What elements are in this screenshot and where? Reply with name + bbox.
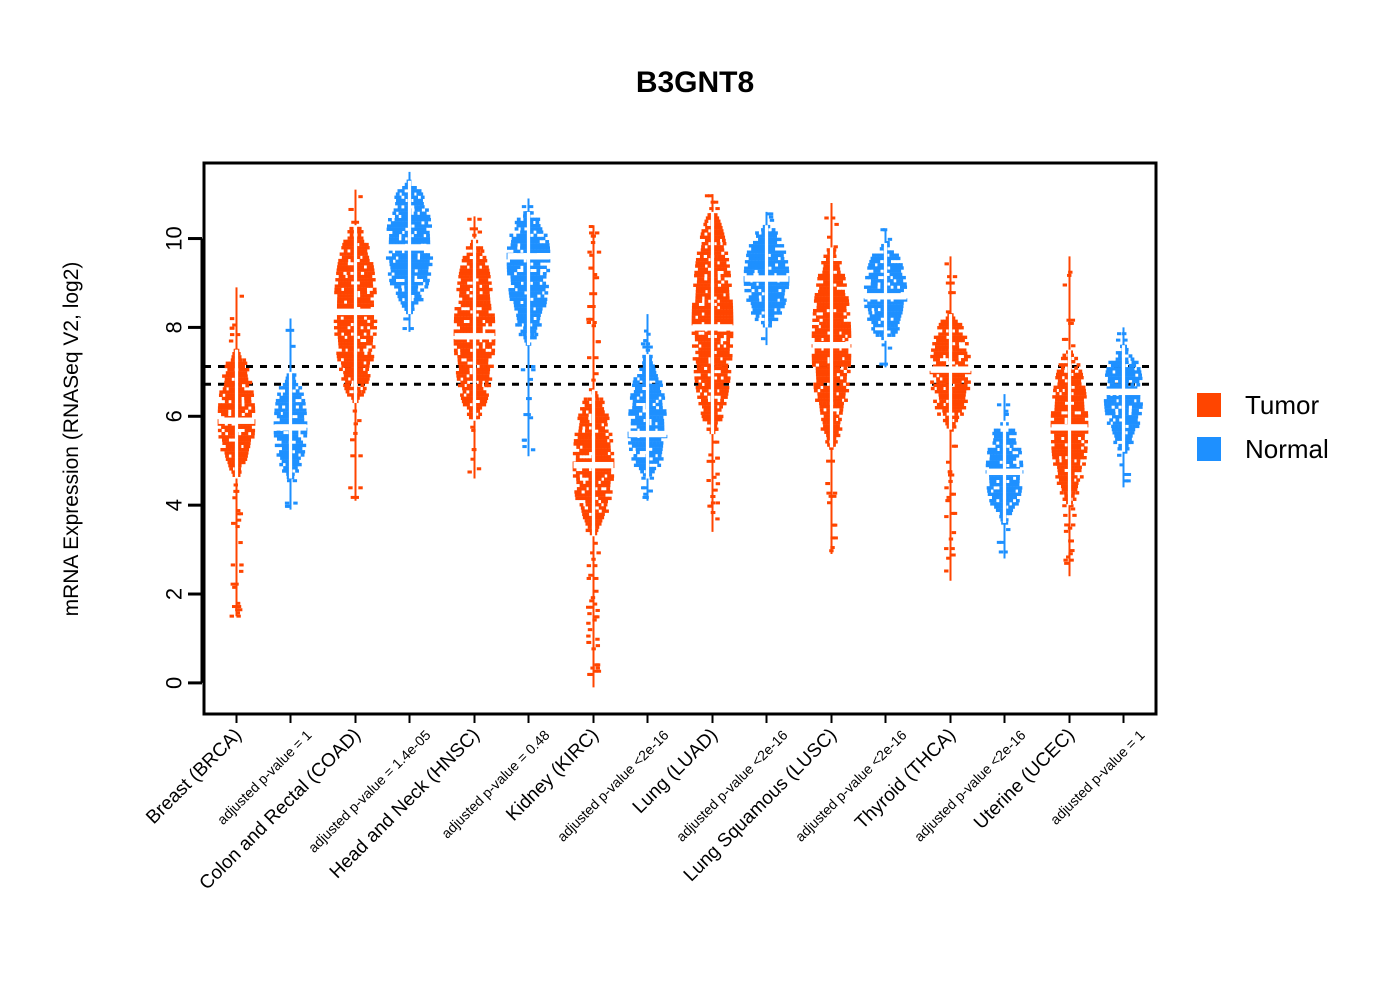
violin-tumor-5-mark xyxy=(847,322,851,325)
violin-tumor-1-mark xyxy=(347,316,351,319)
violin-normal-0-mark xyxy=(294,466,298,469)
violin-normal-3-mark xyxy=(652,422,656,425)
violin-tumor-1-mark xyxy=(365,243,369,246)
violin-tumor-4-mark xyxy=(717,367,721,370)
violin-tumor-3-mark xyxy=(599,397,603,400)
violin-normal-1-mark xyxy=(392,256,396,259)
violin-normal-4-mark xyxy=(751,260,755,263)
violin-normal-3-mark xyxy=(653,416,657,419)
violin-tumor-0-mark xyxy=(241,387,245,390)
violin-tumor-1-mark xyxy=(368,348,372,351)
violin-normal-6-mark xyxy=(1018,489,1022,492)
violin-tumor-0-mark xyxy=(248,413,252,416)
violin-normal-0-mark xyxy=(299,409,303,412)
violin-tumor-6-mark xyxy=(945,332,949,335)
violin-normal-2-mark xyxy=(540,298,544,301)
violin-tumor-6-mark xyxy=(943,412,947,415)
violin-tumor-1-mark xyxy=(357,339,361,342)
violin-tumor-4-mark xyxy=(720,293,724,296)
violin-normal-3-mark xyxy=(639,406,643,409)
violin-normal-3-mark xyxy=(642,371,646,374)
violin-tumor-1-mark xyxy=(367,355,371,358)
violin-normal-5-mark xyxy=(884,243,887,341)
violin-tumor-2-mark xyxy=(476,416,480,419)
violin-normal-0-mark xyxy=(274,409,278,412)
violin-normal-4-mark xyxy=(771,238,775,241)
violin-tumor-1-mark xyxy=(371,272,375,275)
violin-tumor-1-mark xyxy=(364,272,368,275)
violin-tumor-1-mark xyxy=(357,240,361,243)
violin-tumor-2-mark xyxy=(479,345,483,348)
violin-tumor-3-mark xyxy=(599,506,603,509)
violin-tumor-5-mark xyxy=(845,389,849,392)
violin-normal-3-mark xyxy=(643,377,647,380)
violin-normal-2-mark xyxy=(517,259,521,262)
violin-tumor-1-mark xyxy=(349,227,353,230)
violin-tumor-1-mark xyxy=(344,259,348,262)
violin-normal-1-mark xyxy=(421,196,425,199)
violin-normal-3-mark xyxy=(639,460,643,463)
violin-tumor-1-mark xyxy=(347,268,351,271)
violin-tumor-5-mark xyxy=(834,223,838,226)
violin-tumor-5-mark xyxy=(826,367,830,370)
violin-tumor-4-mark xyxy=(701,264,705,267)
violin-tumor-4-mark xyxy=(728,284,732,287)
violin-tumor-4-mark xyxy=(729,300,733,303)
violin-normal-3-mark xyxy=(642,416,646,419)
violin-normal-2-mark xyxy=(533,336,537,339)
violin-normal-1-mark xyxy=(394,266,398,269)
violin-tumor-5-mark xyxy=(825,482,829,485)
violin-normal-0-mark xyxy=(282,441,286,444)
violin-tumor-1-mark xyxy=(357,249,361,252)
violin-tumor-3-mark xyxy=(581,417,585,420)
violin-normal-4-mark xyxy=(761,286,765,289)
violin-tumor-2-mark xyxy=(463,371,467,374)
violin-tumor-5-mark xyxy=(833,424,837,427)
violin-normal-4-mark xyxy=(771,263,775,266)
violin-tumor-1-mark xyxy=(367,358,371,361)
violin-tumor-1-mark xyxy=(360,323,364,326)
violin-normal-5-mark xyxy=(874,276,878,279)
violin-tumor-1-mark xyxy=(350,297,354,300)
violin-tumor-3-mark xyxy=(598,423,602,426)
violin-normal-4-mark xyxy=(767,212,771,215)
violin-normal-4-mark xyxy=(758,267,762,270)
violin-normal-1-mark xyxy=(421,269,425,272)
violin-tumor-1-mark xyxy=(357,323,361,326)
violin-tumor-3-mark xyxy=(596,397,600,400)
violin-tumor-4-mark xyxy=(721,236,725,239)
violin-normal-5-mark xyxy=(893,318,897,321)
violin-normal-1-mark xyxy=(426,231,430,234)
violin-normal-6-mark xyxy=(1013,464,1017,467)
violin-tumor-5-mark xyxy=(829,495,833,498)
violin-normal-6-mark xyxy=(999,499,1003,502)
violin-normal-1-mark xyxy=(411,308,415,311)
violin-tumor-4-mark xyxy=(720,383,724,386)
violin-tumor-6-mark xyxy=(967,355,971,358)
violin-tumor-1-mark xyxy=(340,320,344,323)
violin-tumor-0-mark xyxy=(244,454,248,457)
violin-normal-4-mark xyxy=(754,311,758,314)
violin-normal-2-mark xyxy=(523,269,527,272)
violin-normal-3-mark xyxy=(655,377,659,380)
violin-normal-3-mark xyxy=(642,460,646,463)
violin-normal-6-mark xyxy=(996,457,1000,460)
violin-tumor-4-mark xyxy=(717,376,721,379)
violin-tumor-2-mark xyxy=(485,285,489,288)
violin-tumor-4-mark xyxy=(721,284,725,287)
violin-tumor-4-mark xyxy=(697,274,701,277)
violin-normal-3-mark xyxy=(633,454,637,457)
violin-tumor-2-mark xyxy=(456,288,460,291)
violin-normal-2-mark xyxy=(523,250,527,253)
violin-tumor-6-mark xyxy=(942,400,946,403)
violin-normal-1-mark xyxy=(418,221,422,224)
violin-tumor-4-mark xyxy=(703,408,707,411)
violin-normal-4-mark xyxy=(785,270,789,273)
violin-normal-1-mark xyxy=(411,218,415,221)
violin-tumor-1-mark xyxy=(350,374,354,377)
violin-normal-4-mark xyxy=(769,216,773,219)
violin-normal-2-mark xyxy=(537,259,541,262)
violin-tumor-6-mark xyxy=(964,400,968,403)
violin-tumor-1-mark xyxy=(358,486,362,489)
violin-normal-4-mark xyxy=(768,286,772,289)
violin-tumor-4-mark xyxy=(714,261,718,264)
violin-normal-3-mark xyxy=(649,384,653,387)
violin-normal-6-mark xyxy=(1009,499,1013,502)
violin-normal-2-mark xyxy=(537,298,541,301)
violin-tumor-6-mark xyxy=(937,412,941,415)
violin-tumor-0-mark xyxy=(238,368,242,371)
violin-normal-0-mark xyxy=(285,460,289,463)
violin-normal-3-mark xyxy=(642,361,646,364)
violin-tumor-5-mark xyxy=(824,360,828,363)
violin-normal-1-mark xyxy=(426,260,430,263)
violin-normal-3-mark xyxy=(652,400,656,403)
violin-normal-5-mark xyxy=(869,260,873,263)
violin-tumor-0-mark xyxy=(245,384,249,387)
violin-normal-0-mark xyxy=(286,418,290,421)
violin-tumor-4-mark xyxy=(717,242,721,245)
violin-normal-3-mark xyxy=(646,354,649,478)
violin-tumor-1-mark xyxy=(369,275,373,278)
violin-normal-6-mark xyxy=(987,489,991,492)
violin-tumor-4-mark xyxy=(707,271,711,274)
violin-tumor-5-mark xyxy=(833,370,837,373)
violin-normal-3-mark xyxy=(644,339,648,342)
violin-normal-1-mark xyxy=(418,224,422,227)
violin-normal-0-mark xyxy=(292,380,296,383)
violin-tumor-0-mark xyxy=(236,509,240,512)
violin-tumor-2-mark xyxy=(466,294,470,297)
violin-tumor-1-mark xyxy=(355,221,359,224)
violin-tumor-3-mark xyxy=(579,481,583,484)
violin-normal-4-mark xyxy=(781,289,785,292)
violin-normal-5-mark xyxy=(877,289,881,292)
violin-normal-4-mark xyxy=(761,247,765,250)
violin-tumor-4-mark xyxy=(723,402,727,405)
violin-tumor-1-mark xyxy=(360,358,364,361)
violin-tumor-5-mark xyxy=(836,379,840,382)
violin-tumor-2-mark xyxy=(462,387,466,390)
violin-tumor-6-mark xyxy=(956,390,960,393)
violin-tumor-1-mark xyxy=(350,233,354,236)
violin-normal-0-mark xyxy=(282,444,286,447)
violin-tumor-1-mark xyxy=(367,297,371,300)
violin-normal-1-mark xyxy=(404,285,408,288)
violin-tumor-0-mark xyxy=(241,432,245,435)
violin-normal-3-mark xyxy=(632,384,636,387)
violin-tumor-5-mark xyxy=(847,354,851,357)
violin-tumor-4-mark xyxy=(725,284,729,287)
violin-normal-0-mark xyxy=(300,415,304,418)
violin-tumor-6-mark xyxy=(963,348,967,351)
violin-tumor-5-mark xyxy=(826,379,830,382)
violin-normal-4-mark xyxy=(751,302,755,305)
violin-tumor-4-mark xyxy=(714,364,718,367)
violin-tumor-3-mark xyxy=(589,449,593,452)
violin-tumor-3-mark xyxy=(607,484,611,487)
violin-tumor-5-mark xyxy=(823,283,827,286)
violin-normal-1-mark xyxy=(394,272,398,275)
violin-tumor-0-mark xyxy=(250,390,254,393)
violin-normal-4-mark xyxy=(768,263,772,266)
violin-normal-1-mark xyxy=(391,221,395,224)
violin-tumor-6-mark xyxy=(955,396,959,399)
violin-tumor-4-mark xyxy=(716,482,720,485)
violin-tumor-1-mark xyxy=(357,304,361,307)
violin-tumor-6-mark xyxy=(952,393,956,396)
violin-normal-6-mark xyxy=(1019,464,1023,467)
violin-normal-2-mark xyxy=(535,221,539,224)
violin-tumor-4-mark xyxy=(714,399,718,402)
violin-tumor-1-mark xyxy=(360,332,364,335)
violin-normal-2-mark xyxy=(533,266,537,269)
violin-normal-0-mark xyxy=(282,386,286,389)
violin-tumor-3-mark xyxy=(594,590,598,593)
violin-tumor-4-mark xyxy=(725,290,729,293)
violin-tumor-4-mark xyxy=(724,396,728,399)
violin-tumor-6-mark xyxy=(955,393,959,396)
violin-tumor-4-mark xyxy=(726,341,730,344)
violin-tumor-0-mark xyxy=(231,522,235,525)
violin-tumor-1-mark xyxy=(348,486,352,489)
violin-normal-4-mark xyxy=(778,286,782,289)
violin-normal-2-mark xyxy=(529,378,533,381)
violin-tumor-1-mark xyxy=(361,384,365,387)
violin-tumor-0-mark xyxy=(232,605,236,608)
violin-tumor-5-mark xyxy=(815,325,819,328)
violin-tumor-3-mark xyxy=(602,433,606,436)
violin-normal-2 xyxy=(507,199,551,457)
violin-normal-0-mark xyxy=(285,386,289,389)
violin-tumor-4-mark xyxy=(707,421,711,424)
violin-tumor-4-mark xyxy=(701,245,705,248)
violin-normal-6-mark xyxy=(1012,483,1016,486)
violin-tumor-1-mark xyxy=(350,393,354,396)
violin-normal-5-mark xyxy=(870,289,874,292)
violin-normal-1-mark xyxy=(411,231,415,234)
violin-normal-1-mark xyxy=(427,218,431,221)
violin-normal-3-mark xyxy=(628,441,632,444)
violin-tumor-2-mark xyxy=(486,294,490,297)
violin-tumor-2-mark xyxy=(474,227,478,230)
violin-tumor-4-mark xyxy=(715,216,719,219)
violin-tumor-4-mark xyxy=(704,300,708,303)
violin-normal-3-mark xyxy=(642,486,646,489)
violin-tumor-4-mark xyxy=(694,274,698,277)
violin-normal-1-mark xyxy=(418,266,422,269)
violin-tumor-3-mark xyxy=(585,452,589,455)
violin-normal-3-mark xyxy=(653,412,657,415)
violin-normal-4-mark xyxy=(751,311,755,314)
violin-tumor-5-mark xyxy=(841,274,845,277)
violin-tumor-5-mark xyxy=(846,383,850,386)
violin-normal-5-mark xyxy=(873,260,877,263)
violin-tumor-5-mark xyxy=(840,370,844,373)
violin-tumor-3-mark xyxy=(610,474,614,477)
violin-tumor-3-mark xyxy=(607,481,611,484)
violin-normal-5-mark xyxy=(894,324,898,327)
violin-normal-3-mark xyxy=(635,387,639,390)
violin-normal-5-mark xyxy=(874,302,878,305)
violin-tumor-4-mark xyxy=(717,373,721,376)
violin-tumor-1-mark xyxy=(370,326,374,329)
violin-tumor-3-mark xyxy=(599,436,603,439)
violin-tumor-4-mark xyxy=(720,245,724,248)
violin-tumor-3-mark xyxy=(581,509,585,512)
violin-tumor-4-mark xyxy=(720,344,724,347)
violin-normal-3-mark xyxy=(653,371,657,374)
violin-normal-1 xyxy=(386,172,433,332)
violin-tumor-2-mark xyxy=(466,365,470,368)
violin-tumor-1-mark xyxy=(360,230,364,233)
violin-normal-2-mark xyxy=(544,234,548,237)
violin-tumor-6-mark xyxy=(947,275,951,278)
violin-tumor-5-mark xyxy=(848,335,852,338)
violin-tumor-6-mark xyxy=(952,422,956,425)
violin-normal-4-mark xyxy=(778,263,782,266)
violin-tumor-4-mark xyxy=(714,408,718,411)
violin-tumor-6-mark xyxy=(945,342,949,345)
violin-normal-5-mark xyxy=(874,257,878,260)
violin-tumor-2-mark xyxy=(469,291,473,294)
violin-normal-4-mark xyxy=(753,282,757,285)
violin-tumor-3-mark xyxy=(595,413,599,416)
violin-normal-4-mark xyxy=(765,225,768,327)
violin-normal-2-mark xyxy=(536,240,540,243)
violin-tumor-1-mark xyxy=(351,342,355,345)
violin-tumor-4-mark xyxy=(711,495,715,498)
violin-tumor-0-mark xyxy=(234,583,238,586)
violin-tumor-1-mark xyxy=(367,304,371,307)
violin-normal-5-mark xyxy=(887,289,891,292)
violin-tumor-1-mark xyxy=(360,320,364,323)
violin-normal-0-mark xyxy=(278,444,282,447)
violin-tumor-2-mark xyxy=(479,381,483,384)
violin-normal-1-mark xyxy=(425,282,429,285)
violin-tumor-0-mark xyxy=(231,403,235,406)
violin-tumor-0-mark xyxy=(232,324,236,327)
violin-normal-4-mark xyxy=(751,263,755,266)
violin-normal-1-mark xyxy=(408,181,411,314)
violin-tumor-1-mark xyxy=(337,304,341,307)
violin-normal-4-mark xyxy=(780,254,784,257)
violin-tumor-4-mark xyxy=(718,255,722,258)
violin-normal-4-mark xyxy=(761,305,765,308)
violin-tumor-2-mark xyxy=(486,291,490,294)
violin-tumor-2-mark xyxy=(462,294,466,297)
violin-tumor-4-mark xyxy=(701,373,705,376)
violin-normal-0-mark xyxy=(285,447,289,450)
violin-tumor-4-mark xyxy=(714,421,718,424)
violin-tumor-4-mark xyxy=(705,242,709,245)
violin-tumor-5-mark xyxy=(836,306,840,309)
violin-tumor-1-mark xyxy=(337,300,341,303)
violin-normal-2-mark xyxy=(513,262,517,265)
violin-tumor-6-mark xyxy=(942,345,946,348)
violin-tumor-2-mark xyxy=(469,390,473,393)
violin-tumor-5-mark xyxy=(836,312,840,315)
violin-tumor-2-mark xyxy=(482,323,486,326)
violin-tumor-3-mark xyxy=(602,493,606,496)
violin-normal-3-mark xyxy=(642,346,646,349)
violin-tumor-3-mark xyxy=(582,413,586,416)
violin-tumor-6-mark xyxy=(946,384,950,387)
violin-normal-1-mark xyxy=(426,240,430,243)
violin-tumor-2-mark xyxy=(469,297,473,300)
violin-tumor-2-mark xyxy=(482,288,486,291)
violin-tumor-1-mark xyxy=(343,371,347,374)
violin-normal-4-mark xyxy=(774,298,778,301)
violin-tumor-2-mark xyxy=(456,371,460,374)
violin-tumor-4-mark xyxy=(726,380,730,383)
violin-normal-5-mark xyxy=(897,270,901,273)
violin-normal-5-mark xyxy=(880,334,884,337)
violin-tumor-3-mark xyxy=(591,596,595,599)
violin-tumor-1-mark xyxy=(338,288,342,291)
violin-tumor-2-mark xyxy=(469,272,473,275)
violin-tumor-1-mark xyxy=(337,355,341,358)
violin-tumor-5-mark xyxy=(833,536,837,539)
violin-normal-6-mark xyxy=(993,499,997,502)
violin-tumor-4-mark xyxy=(700,255,704,258)
violin-tumor-3-mark xyxy=(585,426,589,429)
violin-normal-1-mark xyxy=(421,205,425,208)
violin-tumor-3-mark xyxy=(605,429,609,432)
violin-tumor-6-mark xyxy=(942,393,946,396)
violin-tumor-3-mark xyxy=(595,481,599,484)
violin-normal-2-mark xyxy=(523,262,527,265)
violin-normal-0-mark xyxy=(295,469,299,472)
violin-tumor-4-mark xyxy=(708,415,712,418)
violin-normal-1-mark xyxy=(421,224,425,227)
violin-tumor-3-mark xyxy=(604,503,608,506)
violin-tumor-5-mark xyxy=(833,267,837,270)
violin-normal-0-mark xyxy=(278,409,282,412)
violin-normal-0-mark xyxy=(298,386,302,389)
violin-tumor-5-mark xyxy=(823,322,827,325)
violin-tumor-4-mark xyxy=(714,367,718,370)
violin-tumor-0-mark xyxy=(238,410,242,413)
violin-tumor-3-mark xyxy=(588,267,592,270)
violin-tumor-0-mark xyxy=(229,467,233,470)
violin-tumor-4-mark xyxy=(711,511,715,514)
violin-tumor-5-mark xyxy=(840,363,844,366)
